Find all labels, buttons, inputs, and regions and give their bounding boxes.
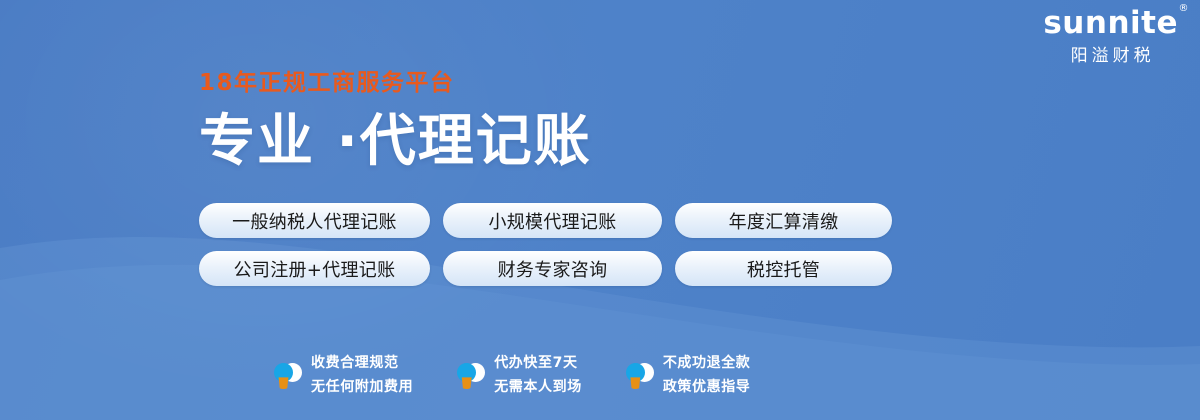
brand-logo[interactable]: sunnite ® 阳溢财税: [1043, 8, 1178, 65]
service-pill[interactable]: 小规模代理记账: [443, 203, 662, 238]
feature-item: 代办快至7天 无需本人到场: [457, 351, 582, 400]
service-pill[interactable]: 税控托管: [675, 251, 892, 286]
brand-wordmark-text: sunnite: [1043, 5, 1178, 41]
badge-icon: [626, 360, 654, 390]
feature-line-secondary: 无任何附加费用: [311, 379, 413, 395]
feature-line-primary: 不成功退全款: [663, 355, 751, 371]
feature-text: 收费合理规范 无任何附加费用: [311, 351, 413, 400]
service-pill[interactable]: 公司注册+代理记账: [199, 251, 430, 286]
feature-strip: 收费合理规范 无任何附加费用 代办快至7天 无需本人到场 不成功退全款 政策优惠…: [274, 351, 750, 400]
feature-item: 不成功退全款 政策优惠指导: [626, 351, 751, 400]
hero-tagline: 18年正规工商服务平台: [199, 72, 959, 95]
feature-text: 代办快至7天 无需本人到场: [494, 351, 582, 400]
hero-headline: 18年正规工商服务平台 专业 ·代理记账: [199, 72, 959, 172]
service-pill[interactable]: 财务专家咨询: [443, 251, 662, 286]
hero-title: 专业 ·代理记账: [199, 112, 959, 172]
promo-banner: sunnite ® 阳溢财税 18年正规工商服务平台 专业 ·代理记账 一般纳税…: [0, 0, 1200, 420]
brand-chinese-name: 阳溢财税: [1043, 48, 1178, 65]
registered-trademark-icon: ®: [1179, 4, 1190, 14]
service-pill-grid: 一般纳税人代理记账 小规模代理记账 年度汇算清缴 公司注册+代理记账 财务专家咨…: [199, 203, 892, 286]
service-pill[interactable]: 一般纳税人代理记账: [199, 203, 430, 238]
feature-line-secondary: 无需本人到场: [494, 379, 582, 395]
badge-icon: [274, 360, 302, 390]
feature-line-secondary: 政策优惠指导: [663, 379, 751, 395]
badge-icon: [457, 360, 485, 390]
feature-item: 收费合理规范 无任何附加费用: [274, 351, 413, 400]
feature-line-primary: 代办快至7天: [494, 355, 577, 371]
service-pill[interactable]: 年度汇算清缴: [675, 203, 892, 238]
feature-line-primary: 收费合理规范: [311, 355, 399, 371]
feature-text: 不成功退全款 政策优惠指导: [663, 351, 751, 400]
brand-wordmark: sunnite ®: [1043, 8, 1178, 39]
